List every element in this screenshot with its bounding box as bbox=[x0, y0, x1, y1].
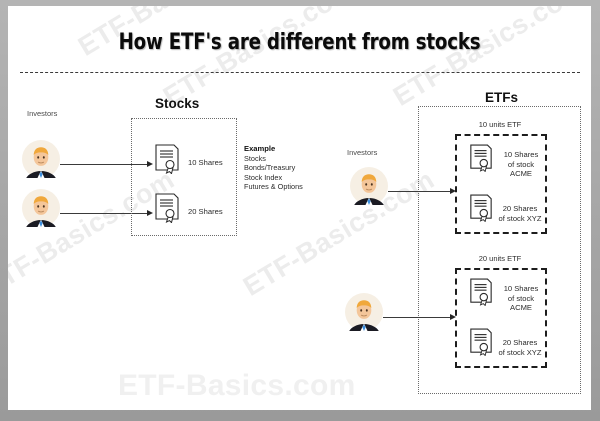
avatar bbox=[22, 140, 60, 178]
example-item: Stock Index bbox=[244, 173, 303, 183]
etf-holding-label: 10 Shares of stock ACME bbox=[498, 284, 544, 313]
example-item: Bonds/Treasury bbox=[244, 163, 303, 173]
etf-holding-line2: of stock XYZ bbox=[495, 214, 545, 224]
stocks-investors-label: Investors bbox=[27, 109, 57, 118]
page-title: How ETF's are different from stocks bbox=[31, 30, 567, 55]
certificate-icon bbox=[469, 194, 493, 222]
etf-holding-line1: 10 Shares bbox=[498, 150, 544, 160]
title-divider bbox=[20, 72, 580, 73]
example-item: Stocks bbox=[244, 154, 303, 164]
stocks-container-box bbox=[131, 118, 237, 236]
diagram-canvas: ETF-Basics.com ETF-Basics.com ETF-Basics… bbox=[8, 6, 591, 410]
arrow-line bbox=[383, 317, 451, 318]
etf-holding-line1: 10 Shares bbox=[498, 284, 544, 294]
etf-holding-line3: ACME bbox=[498, 303, 544, 313]
etf-holding-label: 20 Shares of stock XYZ bbox=[495, 204, 545, 223]
avatar bbox=[350, 167, 388, 205]
example-list: Example Stocks Bonds/Treasury Stock Inde… bbox=[244, 144, 303, 192]
outer-frame: ETF-Basics.com ETF-Basics.com ETF-Basics… bbox=[0, 0, 600, 421]
example-item: Futures & Options bbox=[244, 182, 303, 192]
arrow-line bbox=[388, 191, 451, 192]
etf-units-label: 20 units ETF bbox=[426, 254, 574, 263]
shares-label: 10 Shares bbox=[188, 158, 223, 168]
etf-holding-label: 10 Shares of stock ACME bbox=[498, 150, 544, 179]
etf-holding-line1: 20 Shares bbox=[495, 338, 545, 348]
example-title: Example bbox=[244, 144, 303, 154]
certificate-icon bbox=[154, 144, 180, 174]
certificate-icon bbox=[469, 328, 493, 356]
etfs-panel-heading: ETFs bbox=[485, 90, 518, 105]
etf-holding-label: 20 Shares of stock XYZ bbox=[495, 338, 545, 357]
etf-holding-line2: of stock bbox=[498, 160, 544, 170]
avatar bbox=[22, 189, 60, 227]
stocks-panel-heading: Stocks bbox=[155, 96, 199, 111]
etf-holding-line3: ACME bbox=[498, 169, 544, 179]
watermark-horizontal: ETF-Basics.com bbox=[118, 369, 356, 403]
etf-holding-line2: of stock XYZ bbox=[495, 348, 545, 358]
avatar bbox=[345, 293, 383, 331]
shares-label: 20 Shares bbox=[188, 207, 223, 217]
etf-holding-line2: of stock bbox=[498, 294, 544, 304]
certificate-icon bbox=[469, 278, 493, 306]
etf-holding-line1: 20 Shares bbox=[495, 204, 545, 214]
certificate-icon bbox=[154, 193, 180, 223]
certificate-icon bbox=[469, 144, 493, 172]
etf-units-label: 10 units ETF bbox=[426, 120, 574, 129]
etfs-investors-label: Investors bbox=[347, 148, 377, 157]
